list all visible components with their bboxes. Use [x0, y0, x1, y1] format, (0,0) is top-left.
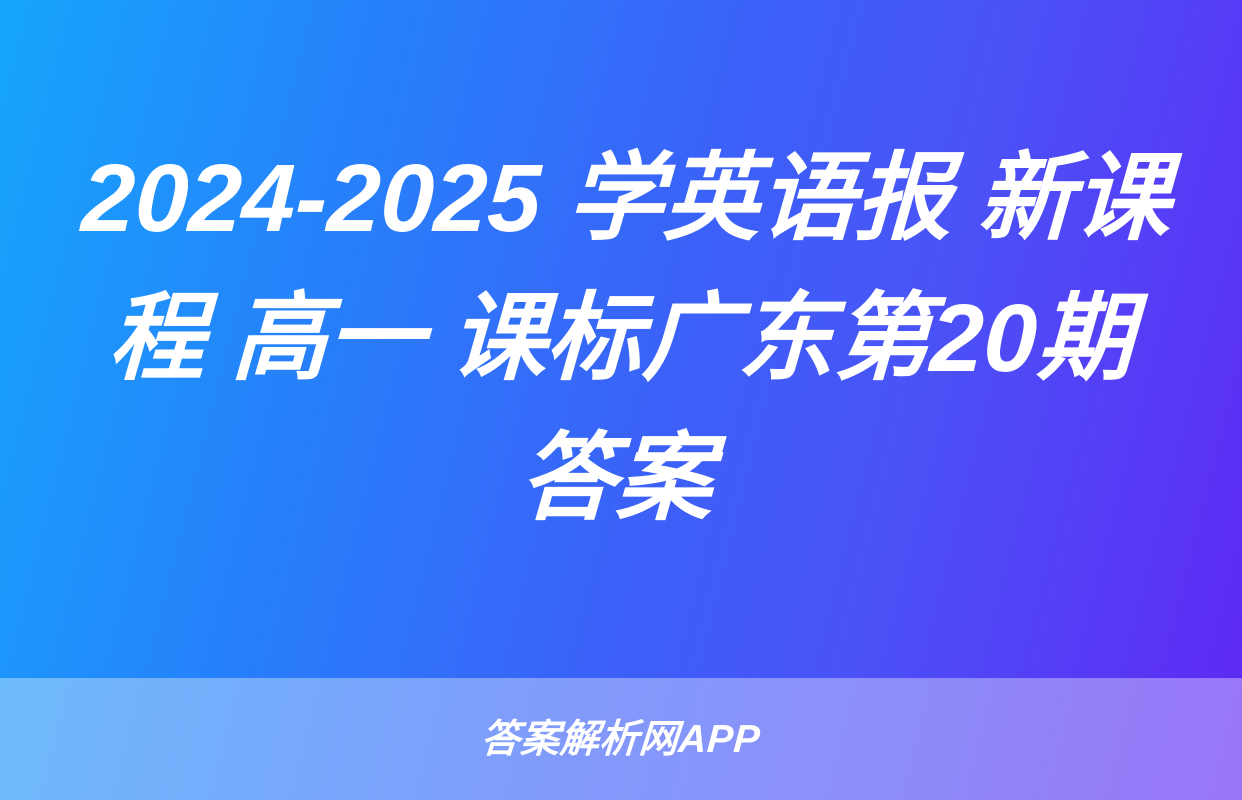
brand-name: 答案解析网APP: [480, 720, 762, 759]
promo-banner: 2024-2025 学英语报 新课程 高一 课标广东第20期答案 答案解析网AP…: [0, 0, 1242, 800]
headline-container: 2024-2025 学英语报 新课程 高一 课标广东第20期答案: [0, 0, 1242, 678]
page-title: 2024-2025 学英语报 新课程 高一 课标广东第20期答案: [61, 129, 1182, 549]
footer-brand-band: 答案解析网APP: [0, 678, 1242, 800]
